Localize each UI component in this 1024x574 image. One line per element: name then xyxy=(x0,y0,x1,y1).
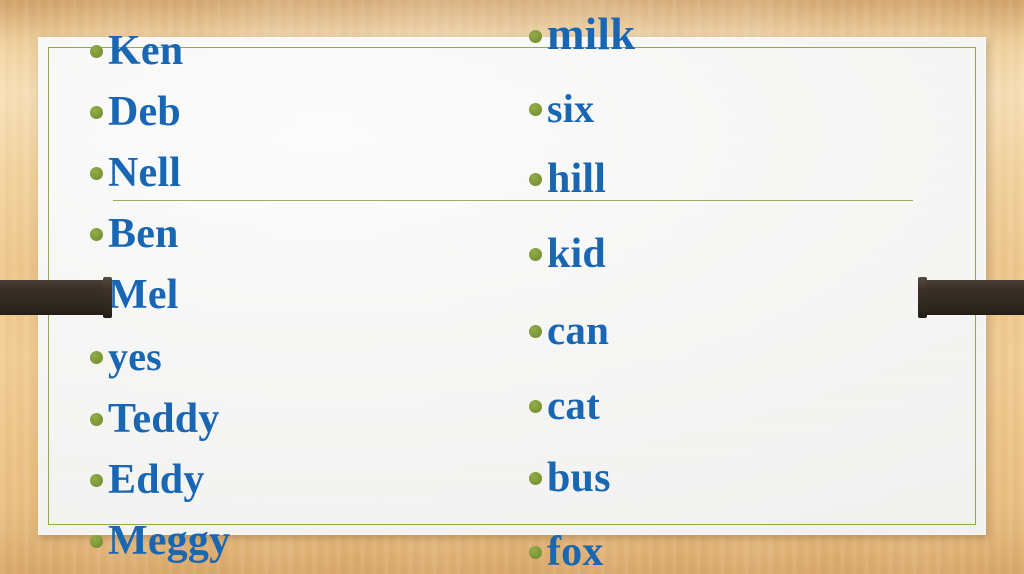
list-item-label: six xyxy=(547,89,594,129)
list-item: bus xyxy=(529,457,611,499)
list-item: can xyxy=(529,310,609,351)
bullet-dot-icon xyxy=(529,546,542,559)
list-item: Deb xyxy=(90,91,181,133)
list-item-label: Meggy xyxy=(108,520,230,562)
binder-clip-left-icon xyxy=(0,277,112,318)
bullet-dot-icon xyxy=(90,106,103,119)
card-inner-border xyxy=(48,47,976,525)
bullet-dot-icon xyxy=(529,103,542,116)
list-item-label: Ken xyxy=(108,30,183,72)
bullet-dot-icon xyxy=(529,472,542,485)
list-item: hill xyxy=(529,158,606,200)
bullet-dot-icon xyxy=(529,30,542,43)
list-item: Eddy xyxy=(90,459,205,501)
bullet-dot-icon xyxy=(90,167,103,180)
list-item: milk xyxy=(529,12,635,57)
list-item-label: kid xyxy=(547,233,606,275)
list-item-label: can xyxy=(547,310,609,351)
list-item-label: Eddy xyxy=(108,459,205,501)
list-item: Nell xyxy=(90,152,181,194)
list-item-label: yes xyxy=(108,337,162,377)
bullet-dot-icon xyxy=(529,173,542,186)
list-item-label: fox xyxy=(547,531,604,573)
list-item-label: bus xyxy=(547,457,611,499)
list-item-label: Deb xyxy=(108,91,181,133)
list-item: Teddy xyxy=(90,398,220,440)
bullet-dot-icon xyxy=(90,474,103,487)
clip-body xyxy=(0,280,106,315)
bullet-dot-icon xyxy=(90,413,103,426)
binder-clip-right-icon xyxy=(918,277,1024,318)
list-item-label: Teddy xyxy=(108,398,220,440)
clip-body xyxy=(924,280,1024,315)
bullet-dot-icon xyxy=(90,228,103,241)
bullet-dot-icon xyxy=(90,45,103,58)
clip-cap xyxy=(103,277,112,318)
list-item: yes xyxy=(90,337,162,377)
bullet-dot-icon xyxy=(90,535,103,548)
bullet-dot-icon xyxy=(529,400,542,413)
clip-cap xyxy=(918,277,927,318)
bullet-dot-icon xyxy=(90,351,103,364)
list-item-label: hill xyxy=(547,158,606,200)
list-item: Ken xyxy=(90,30,183,72)
list-item: Ben xyxy=(90,213,179,255)
list-item: kid xyxy=(529,233,606,275)
bullet-dot-icon xyxy=(529,325,542,338)
horizontal-divider-rule xyxy=(113,200,913,201)
list-item-label: cat xyxy=(547,385,600,426)
list-item: fox xyxy=(529,531,604,573)
list-item-label: Nell xyxy=(108,152,181,194)
list-item: Meggy xyxy=(90,520,230,562)
list-item-label: Mel xyxy=(108,274,179,316)
bullet-dot-icon xyxy=(529,248,542,261)
slide-canvas: KenDebNellBenMelyesTeddyEddyMeggy milksi… xyxy=(0,0,1024,574)
list-item-label: Ben xyxy=(108,213,179,255)
list-item-label: milk xyxy=(547,12,635,57)
list-item: six xyxy=(529,89,594,129)
list-item: cat xyxy=(529,385,600,426)
